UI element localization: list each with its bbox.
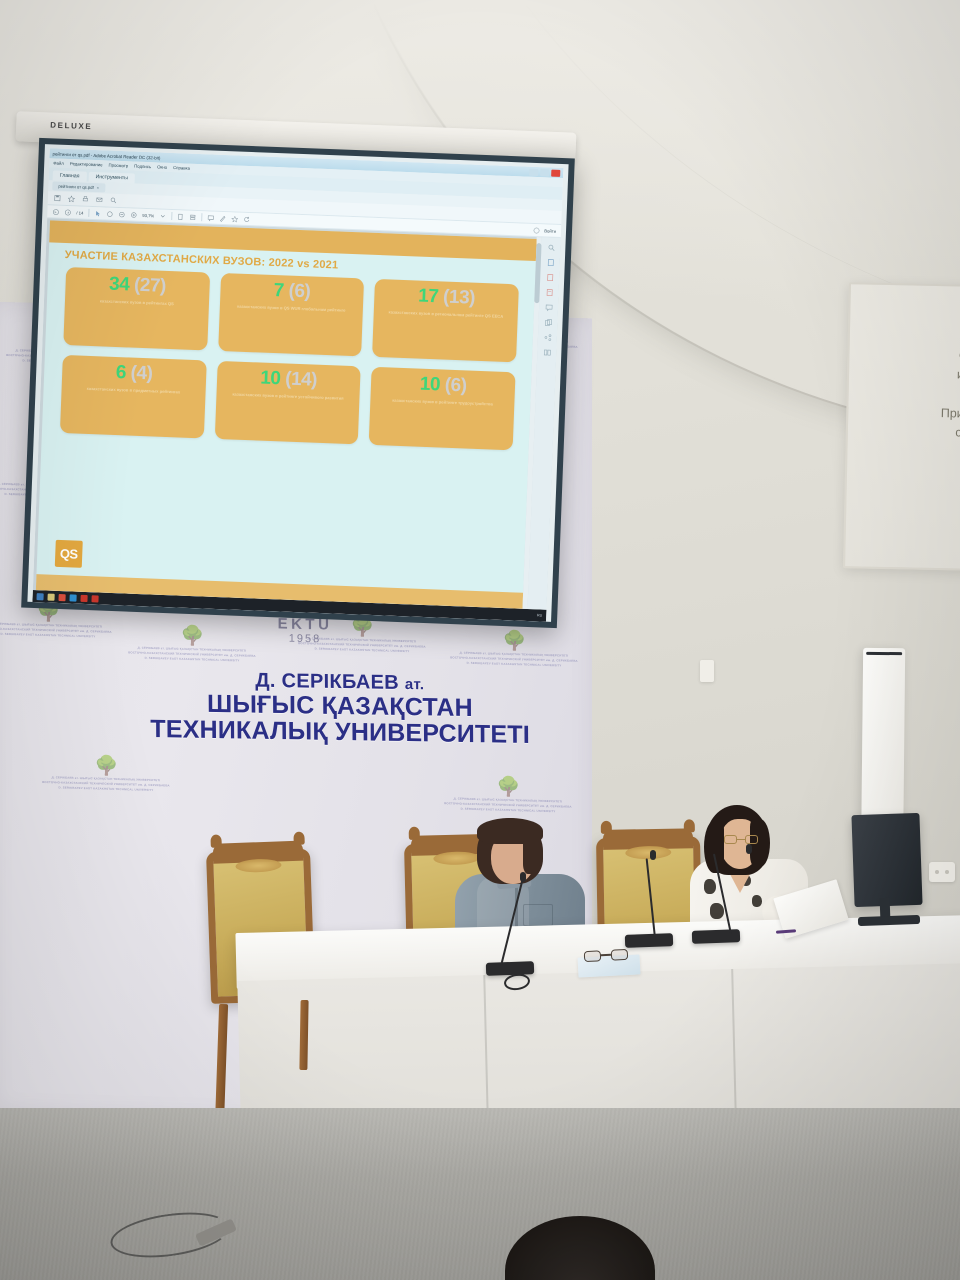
stat-current-value: 6 — [115, 362, 126, 383]
comment-icon[interactable] — [207, 214, 214, 221]
select-tool-icon[interactable] — [94, 210, 101, 217]
microphone-capsule-right — [746, 844, 752, 854]
blouse-pattern-spot — [710, 903, 724, 919]
table-eyeglass-lens-right — [611, 949, 629, 961]
help-icon[interactable] — [533, 226, 540, 233]
stat-previous-value: (4) — [130, 363, 153, 385]
search-icon[interactable] — [547, 243, 555, 251]
share-icon[interactable] — [543, 333, 551, 341]
page-indicator[interactable]: / 14 — [76, 210, 83, 215]
backdrop-tile: 🌳 Д. СЕРІКБАЕВ ат. ШЫҒЫС ҚАЗАҚСТАН ТЕХНИ… — [444, 630, 584, 669]
stat-previous-value: (13) — [443, 287, 476, 309]
microphone-capsule-left — [520, 872, 526, 882]
wall-quote-panel: «у создана у изучать, р научн При таких … — [843, 282, 960, 572]
stat-card-caption: казахстанских вузов в региональном рейти… — [388, 309, 503, 319]
hand-tool-icon[interactable] — [106, 210, 113, 217]
conference-hall-photo: 🌳 Д. СЕРІКБАЕВ ат. ШЫҒЫС ҚАЗАҚСТАН ТЕХНИ… — [0, 0, 960, 1280]
speaker-right-eyeglasses — [724, 835, 758, 844]
slide-stat-cards: 34 (27) казахстанских вузов в рейтингах … — [60, 267, 519, 460]
stat-card: 34 (27) казахстанских вузов в рейтингах … — [63, 267, 210, 350]
speaker-left-pocket — [523, 904, 553, 926]
qs-logo: QS — [55, 540, 83, 568]
search-icon[interactable] — [110, 197, 117, 204]
highlight-icon[interactable] — [219, 214, 226, 221]
acrobat-reader-window[interactable]: рейтинги от qs.pdf - Adobe Acrobat Reade… — [32, 148, 563, 621]
maximize-button[interactable] — [540, 169, 549, 176]
toolbar-separator — [88, 209, 89, 217]
stat-card-caption: казахстанских вузов в предметных рейтинг… — [87, 386, 181, 396]
stat-current-value: 10 — [260, 368, 281, 390]
stat-card-caption: казахстанских вузов в QS WUR глобальном … — [237, 304, 346, 314]
pdf-slide: УЧАСТИЕ КАЗАХСТАНСКИХ ВУЗОВ: 2022 vs 202… — [36, 220, 537, 608]
wall-quote-line-6: становить — [858, 421, 960, 444]
start-icon[interactable] — [36, 593, 43, 600]
tree-emblem-icon: 🌳 — [122, 625, 262, 648]
stat-card: 7 (6) казахстанских вузов в QS WUR глоба… — [218, 273, 365, 356]
chevron-down-icon[interactable] — [159, 212, 166, 219]
speaker-right-hair-left — [704, 821, 724, 873]
backdrop-title-suffix: ат. — [405, 676, 425, 693]
save-icon[interactable] — [54, 194, 61, 201]
window-controls[interactable] — [529, 168, 560, 176]
tree-emblem-icon: 🌳 — [36, 755, 176, 778]
stat-card-value: 6 (4) — [115, 363, 152, 384]
organize-pages-icon[interactable] — [543, 348, 551, 356]
stamp-icon[interactable] — [231, 215, 238, 222]
blouse-pattern-spot — [752, 895, 762, 907]
stat-card: 17 (13) казахстанских вузов в региональн… — [372, 279, 519, 362]
computer-monitor — [851, 813, 922, 907]
backdrop-tile: 🌳 Д. СЕРІКБАЕВ ат. ШЫҒЫС ҚАЗАҚСТАН ТЕХНИ… — [122, 625, 262, 664]
toolbar-separator — [171, 212, 172, 220]
emblem-year: 1958 — [245, 632, 365, 647]
zoom-out-icon[interactable] — [118, 210, 125, 217]
blouse-pattern-spot — [704, 879, 716, 894]
stat-current-value: 34 — [109, 274, 130, 296]
chrome-icon[interactable] — [58, 593, 65, 600]
print-icon[interactable] — [82, 196, 89, 203]
backdrop-university-title: Д. СЕРІКБАЕВ ат. ШЫҒЫС ҚАЗАҚСТАН ТЕХНИКА… — [140, 669, 541, 749]
stat-previous-value: (6) — [288, 281, 311, 303]
document-tab-label: рейтинги от qs.pdf — [58, 184, 93, 190]
wall-sensor — [700, 660, 714, 682]
stat-card-row: 34 (27) казахстанских вузов в рейтингах … — [63, 267, 519, 362]
rotate-icon[interactable] — [243, 215, 250, 222]
stat-card: 10 (6) казахстанских вузов в рейтинге тр… — [369, 367, 516, 450]
stat-previous-value: (6) — [444, 375, 467, 397]
stat-previous-value: (14) — [285, 369, 318, 391]
stat-card-value: 34 (27) — [109, 275, 166, 297]
table-eyeglass-lens-left — [584, 950, 602, 962]
system-tray[interactable]: RU — [537, 613, 542, 617]
sign-in-button[interactable]: Войти — [544, 228, 556, 233]
edit-pdf-icon[interactable] — [545, 288, 553, 296]
close-button[interactable] — [551, 169, 560, 176]
fit-page-icon[interactable] — [177, 213, 184, 220]
explorer-icon[interactable] — [47, 593, 54, 600]
zoom-level[interactable]: 93,7% — [142, 212, 154, 217]
email-icon[interactable] — [96, 196, 103, 203]
table-eyeglass-bridge — [601, 954, 611, 956]
backdrop-tile: 🌳 Д. СЕРІКБАЕВ ат. ШЫҒЫС ҚАЗАҚСТАН ТЕХНИ… — [438, 776, 578, 815]
close-icon[interactable]: × — [97, 185, 100, 190]
stat-card: 6 (4) казахстанских вузов в предметных р… — [60, 355, 207, 438]
stat-card-caption: казахстанских вузов в рейтинге трудоустр… — [392, 398, 493, 408]
menu-item-file[interactable]: Файл — [53, 160, 64, 165]
toolbar-separator — [201, 213, 202, 221]
telegram-icon[interactable] — [69, 594, 76, 601]
menu-item-help[interactable]: Справка — [173, 165, 190, 171]
chair-leg — [299, 1000, 308, 1070]
acrobat-icon[interactable] — [80, 594, 87, 601]
stat-current-value: 17 — [418, 286, 439, 308]
menu-item-edit[interactable]: Редактирование — [70, 161, 103, 167]
minimize-button[interactable] — [529, 168, 538, 175]
speaker-left-side-hair — [523, 834, 543, 874]
heater-vent — [866, 652, 902, 655]
stat-current-value: 7 — [273, 280, 284, 301]
eyeglasses-on-table — [584, 949, 629, 963]
eyeglass-lens-left — [724, 835, 737, 844]
projected-image: рейтинги от qs.pdf - Adobe Acrobat Reade… — [27, 144, 568, 622]
export-pdf-icon[interactable] — [546, 258, 554, 266]
stat-card-value: 7 (6) — [273, 281, 310, 302]
microphone-base-left — [486, 961, 534, 976]
acrobat-icon-2[interactable] — [91, 595, 98, 602]
stat-card-row: 6 (4) казахстанских вузов в предметных р… — [60, 355, 516, 450]
tree-emblem-icon: 🌳 — [438, 776, 578, 799]
stat-card: 10 (14) казахстанских вузов в рейтинге у… — [214, 361, 361, 444]
undo-icon[interactable] — [52, 208, 59, 215]
document-viewport[interactable]: УЧАСТИЕ КАЗАХСТАНСКИХ ВУЗОВ: 2022 vs 202… — [33, 218, 561, 609]
zoom-in-icon[interactable] — [130, 211, 137, 218]
menu-item-window[interactable]: Окно — [157, 164, 167, 169]
tree-emblem-icon: 🌳 — [444, 630, 584, 653]
eyeglass-lens-right — [745, 835, 758, 844]
stat-card-value: 10 (14) — [260, 369, 317, 391]
redo-icon[interactable] — [64, 208, 71, 215]
tray-language[interactable]: RU — [537, 613, 542, 617]
stat-card-caption: казахстанских вузов в рейтинге устойчиво… — [232, 391, 343, 401]
scroll-mode-icon[interactable] — [189, 213, 196, 220]
stat-previous-value: (27) — [134, 275, 167, 297]
projection-screen: рейтинги от qs.pdf - Adobe Acrobat Reade… — [21, 138, 575, 628]
comment-icon[interactable] — [544, 303, 552, 311]
menu-item-view[interactable]: Просмотр — [108, 163, 128, 169]
power-outlet — [929, 862, 955, 882]
create-pdf-icon[interactable] — [546, 273, 554, 281]
backdrop-tile: 🌳 Д. СЕРІКБАЕВ ат. ШЫҒЫС ҚАЗАҚСТАН ТЕХНИ… — [36, 755, 176, 794]
star-icon[interactable] — [68, 195, 75, 202]
screen-brand-label: DELUXE — [50, 121, 92, 132]
microphone-base-center — [625, 933, 673, 948]
chair-carving — [625, 846, 671, 860]
eyeglass-bridge — [737, 839, 745, 840]
microphone-base-right — [692, 929, 740, 944]
toolbar-right-group[interactable]: Войти — [533, 226, 556, 234]
stat-current-value: 10 — [419, 374, 440, 396]
menu-item-sign[interactable]: Подпись — [134, 164, 151, 170]
chair-carving — [235, 858, 281, 873]
stat-card-value: 17 (13) — [418, 287, 475, 309]
stat-card-caption: казахстанских вузов в рейтингах QS — [100, 298, 174, 307]
stat-card-value: 10 (6) — [419, 375, 466, 397]
combine-files-icon[interactable] — [544, 318, 552, 326]
microphone-capsule-center — [650, 850, 656, 860]
